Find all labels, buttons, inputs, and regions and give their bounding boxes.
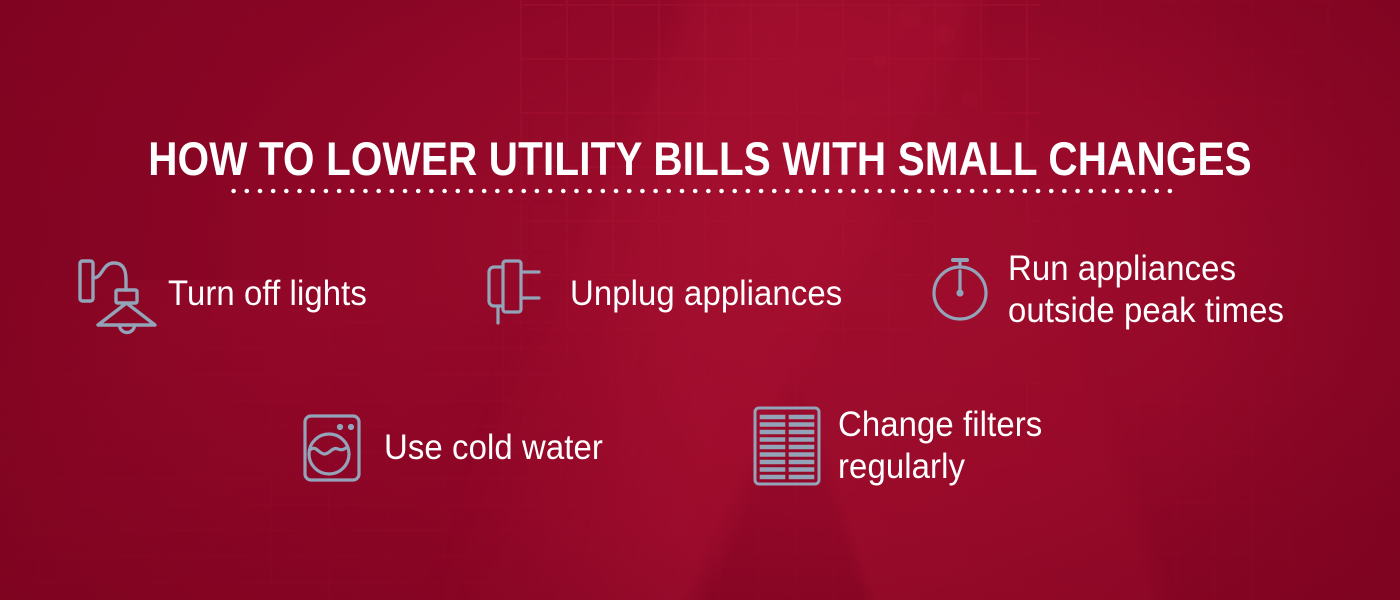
page-title: HOW TO LOWER UTILITY BILLS WITH SMALL CH… [98, 135, 1302, 182]
tip-change-filters: Change filters regularly [752, 404, 1055, 488]
tip-label: Use cold water [384, 427, 603, 469]
tip-run-appliances-off-peak: Run appliances outside peak times [928, 248, 1302, 332]
tip-label: Unplug appliances [570, 273, 842, 315]
infographic-content: HOW TO LOWER UTILITY BILLS WITH SMALL CH… [0, 0, 1400, 600]
tip-unplug-appliances: Unplug appliances [482, 258, 860, 330]
dotted-divider [227, 186, 1173, 196]
tip-use-cold-water: Use cold water [296, 412, 617, 484]
stopwatch-icon [928, 258, 992, 322]
tip-label: Change filters regularly [838, 404, 1042, 488]
wall-lamp-icon [80, 258, 152, 330]
washing-machine-icon [296, 412, 368, 484]
tip-label: Turn off lights [168, 273, 367, 315]
tip-label: Run appliances outside peak times [1008, 248, 1284, 332]
air-filter-icon [752, 405, 822, 487]
infographic-banner: HOW TO LOWER UTILITY BILLS WITH SMALL CH… [0, 0, 1400, 600]
power-plug-icon [482, 258, 554, 330]
tip-turn-off-lights: Turn off lights [80, 258, 380, 330]
